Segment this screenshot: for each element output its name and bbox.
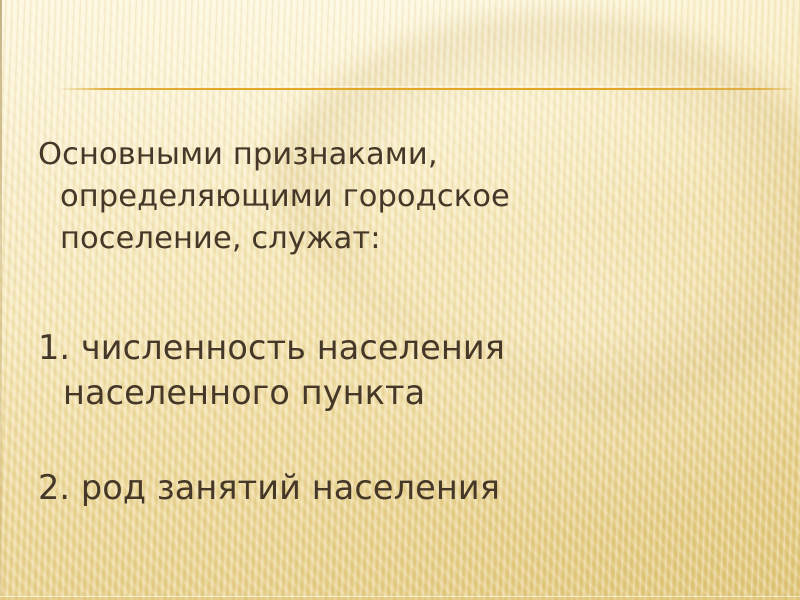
title-divider-rule xyxy=(60,88,792,90)
slide-left-edge xyxy=(0,0,2,600)
slide-title[interactable] xyxy=(60,34,792,84)
presentation-slide: Основными признаками, определяющими горо… xyxy=(0,0,800,600)
list-item-2: 2. род занятий населения xyxy=(38,465,623,510)
lead-paragraph: Основными признаками, определяющими горо… xyxy=(38,134,660,260)
list-item-1: 1. численность населения населенного пун… xyxy=(38,325,623,415)
title-divider-rule-highlight xyxy=(60,86,792,87)
slide-bottom-highlight xyxy=(0,596,800,597)
slide-background-diagonal-texture xyxy=(0,0,800,600)
